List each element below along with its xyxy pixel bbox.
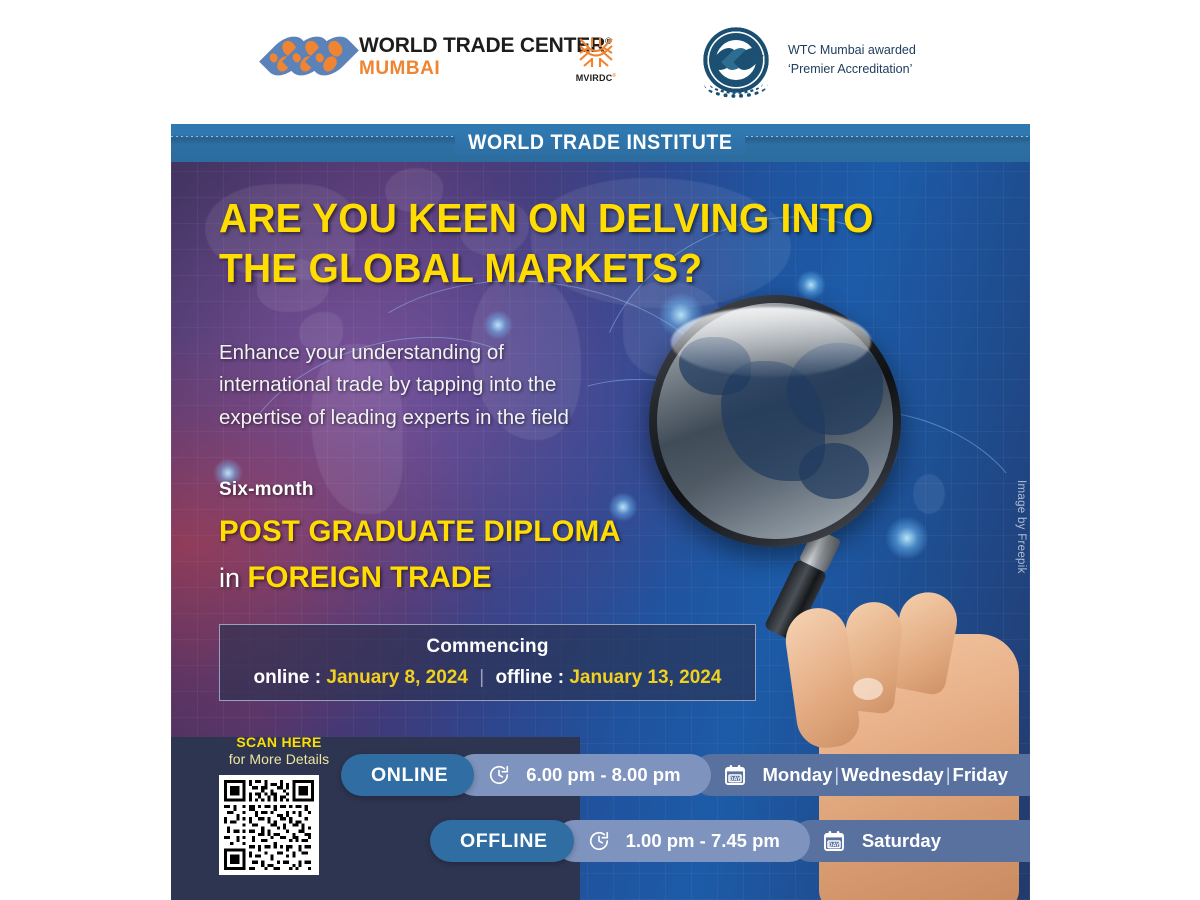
- clock-icon: [488, 764, 510, 786]
- wtc-mumbai-logo: WORLD TRADE CENTER® MUMBAI: [271, 33, 612, 79]
- mvirdc-logo: MVIRDC®: [570, 36, 622, 83]
- scan-block[interactable]: SCAN HERE for More Details: [219, 734, 339, 875]
- schedule-mode-offline: OFFLINE: [430, 820, 574, 862]
- date-separator: |: [473, 667, 490, 688]
- schedule-days-online: DAY Monday|Wednesday|Friday: [691, 754, 1030, 796]
- day-label: Wednesday: [841, 764, 943, 785]
- wtc-logo-line1: WORLD TRADE CENTER: [359, 34, 605, 57]
- premier-accreditation-seal: [700, 24, 772, 96]
- subheadline: Enhance your understanding of internatio…: [219, 337, 689, 434]
- day-separator: |: [944, 764, 953, 785]
- mvirdc-label: MVIRDC: [576, 73, 613, 83]
- schedule-time-online: 6.00 pm - 8.00 pm: [454, 754, 710, 796]
- three-globes-logo: [271, 33, 347, 79]
- mvirdc-knot-logo: [576, 36, 616, 70]
- course-subject-prefix: in: [219, 563, 240, 593]
- image-credit: Image by Freepik: [1015, 480, 1027, 574]
- network-node: [483, 310, 513, 340]
- accreditation-line2: ‘Premier Accreditation’: [788, 60, 916, 79]
- schedule-days-online-value: Monday|Wednesday|Friday: [763, 764, 1009, 786]
- svg-text:DAY: DAY: [729, 776, 740, 782]
- clock-icon: [588, 830, 610, 852]
- calendar-day-icon: DAY: [723, 763, 747, 787]
- hero-artwork: Image by Freepik ARE YOU KEEN ON DELVING…: [171, 162, 1030, 900]
- offline-start-label: offline :: [495, 667, 564, 688]
- headline-line-2: THE GLOBAL MARKETS?: [219, 243, 884, 293]
- subheadline-line-2: international trade by tapping into the: [219, 369, 689, 401]
- headline-line-1: ARE YOU KEEN ON DELVING INTO: [219, 193, 884, 243]
- course-block: Six-month POST GRADUATE DIPLOMA in FOREI…: [219, 479, 621, 595]
- subheadline-line-3: expertise of leading experts in the fiel…: [219, 402, 689, 434]
- svg-text:DAY: DAY: [828, 842, 839, 848]
- accreditation-line1: WTC Mumbai awarded: [788, 41, 916, 60]
- institute-banner: WORLD TRADE INSTITUTE: [171, 124, 1030, 162]
- header-logo-bar: WORLD TRADE CENTER® MUMBAI MVIR: [171, 0, 1030, 124]
- course-subject: FOREIGN TRADE: [248, 561, 492, 594]
- subheadline-line-1: Enhance your understanding of: [219, 337, 689, 369]
- online-start-label: online :: [254, 667, 322, 688]
- institute-title: WORLD TRADE INSTITUTE: [455, 131, 746, 155]
- schedule-time-offline-value: 1.00 pm - 7.45 pm: [626, 830, 780, 852]
- scan-here-title: SCAN HERE: [219, 734, 339, 750]
- accreditation-group: WTC Mumbai awarded ‘Premier Accreditatio…: [700, 24, 916, 96]
- course-title: POST GRADUATE DIPLOMA: [219, 515, 621, 549]
- scan-here-subtitle: for More Details: [219, 751, 339, 767]
- calendar-day-icon: DAY: [822, 829, 846, 853]
- course-duration: Six-month: [219, 479, 621, 501]
- schedule-time-online-value: 6.00 pm - 8.00 pm: [526, 764, 680, 786]
- course-subject-line: in FOREIGN TRADE: [219, 561, 621, 595]
- online-start-date: January 8, 2024: [326, 667, 468, 688]
- schedule-row-offline: OFFLINE 1.00 pm - 7.45 pm: [430, 820, 1030, 862]
- day-separator: |: [832, 764, 841, 785]
- offline-start-date: January 13, 2024: [569, 667, 721, 688]
- registered-mark-icon: ®: [612, 73, 616, 79]
- commencing-box: Commencing online : January 8, 2024 | of…: [219, 624, 756, 701]
- day-label: Monday: [763, 764, 833, 785]
- day-label: Friday: [953, 764, 1009, 785]
- qr-code-icon[interactable]: [224, 780, 314, 870]
- page-title: ARE YOU KEEN ON DELVING INTO THE GLOBAL …: [219, 193, 884, 293]
- schedule-time-offline: 1.00 pm - 7.45 pm: [554, 820, 810, 862]
- schedule-days-offline-value: Saturday: [862, 830, 941, 852]
- schedule-row-online: ONLINE 6.00 pm - 8.00 pm: [341, 754, 1030, 796]
- commencing-label: Commencing: [426, 636, 548, 658]
- commencing-dates: online : January 8, 2024 | offline : Jan…: [254, 667, 722, 689]
- qr-code[interactable]: [219, 775, 319, 875]
- schedule-days-offline: DAY Saturday: [790, 820, 1030, 862]
- promotional-poster: WORLD TRADE CENTER® MUMBAI MVIR: [171, 0, 1030, 900]
- schedule-mode-online: ONLINE: [341, 754, 474, 796]
